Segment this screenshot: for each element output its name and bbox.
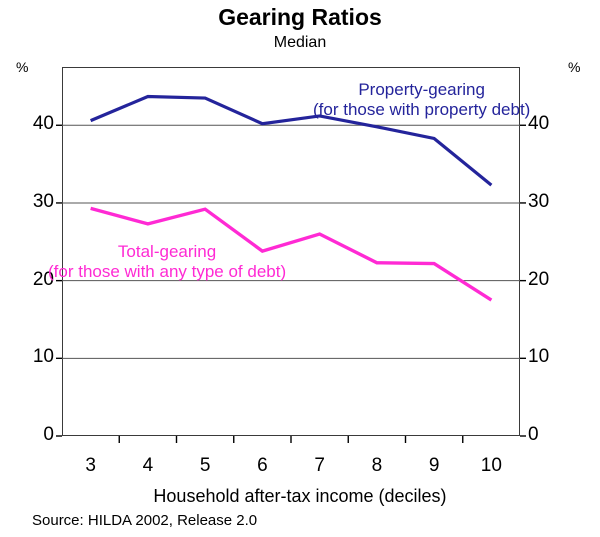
y-axis-tick-label-right-40: 40	[528, 113, 574, 135]
series-annotation-property-gearing: Property-gearing (for those with propert…	[313, 80, 530, 120]
gearing-ratios-chart: Gearing Ratios Median % % 010203040 0102…	[0, 0, 600, 537]
series-annotation-total-gearing-line1: Total-gearing	[48, 242, 286, 262]
series-annotation-total-gearing-line2: (for those with any type of debt)	[48, 262, 286, 282]
series-annotation-total-gearing: Total-gearing (for those with any type o…	[48, 242, 286, 282]
x-axis-tick-label-3: 3	[67, 455, 115, 477]
y-axis-tick-label-left-0: 0	[8, 424, 54, 446]
y-axis-ticks-right-group	[520, 125, 526, 436]
x-axis-tick-label-9: 9	[410, 455, 458, 477]
chart-subtitle: Median	[0, 34, 600, 52]
y-axis-tick-label-right-30: 30	[528, 191, 574, 213]
x-axis-tick-label-5: 5	[181, 455, 229, 477]
y-axis-unit-right: %	[568, 59, 580, 75]
x-axis-title: Household after-tax income (deciles)	[0, 486, 600, 507]
y-axis-tick-label-right-20: 20	[528, 269, 574, 291]
y-axis-tick-label-right-0: 0	[528, 424, 574, 446]
y-axis-tick-label-left-30: 30	[8, 191, 54, 213]
y-axis-tick-label-left-10: 10	[8, 346, 54, 368]
series-annotation-property-gearing-line2: (for those with property debt)	[313, 100, 530, 120]
x-axis-tick-label-6: 6	[238, 455, 286, 477]
x-axis-ticks-group	[119, 436, 463, 443]
x-axis-tick-label-8: 8	[353, 455, 401, 477]
chart-title: Gearing Ratios	[0, 4, 600, 31]
series-annotation-property-gearing-line1: Property-gearing	[313, 80, 530, 100]
y-axis-unit-left: %	[16, 59, 28, 75]
source-note: Source: HILDA 2002, Release 2.0	[32, 512, 257, 529]
x-axis-tick-label-10: 10	[467, 455, 515, 477]
x-axis-tick-label-4: 4	[124, 455, 172, 477]
y-axis-tick-label-right-10: 10	[528, 346, 574, 368]
x-axis-tick-label-7: 7	[296, 455, 344, 477]
y-axis-tick-label-left-40: 40	[8, 113, 54, 135]
